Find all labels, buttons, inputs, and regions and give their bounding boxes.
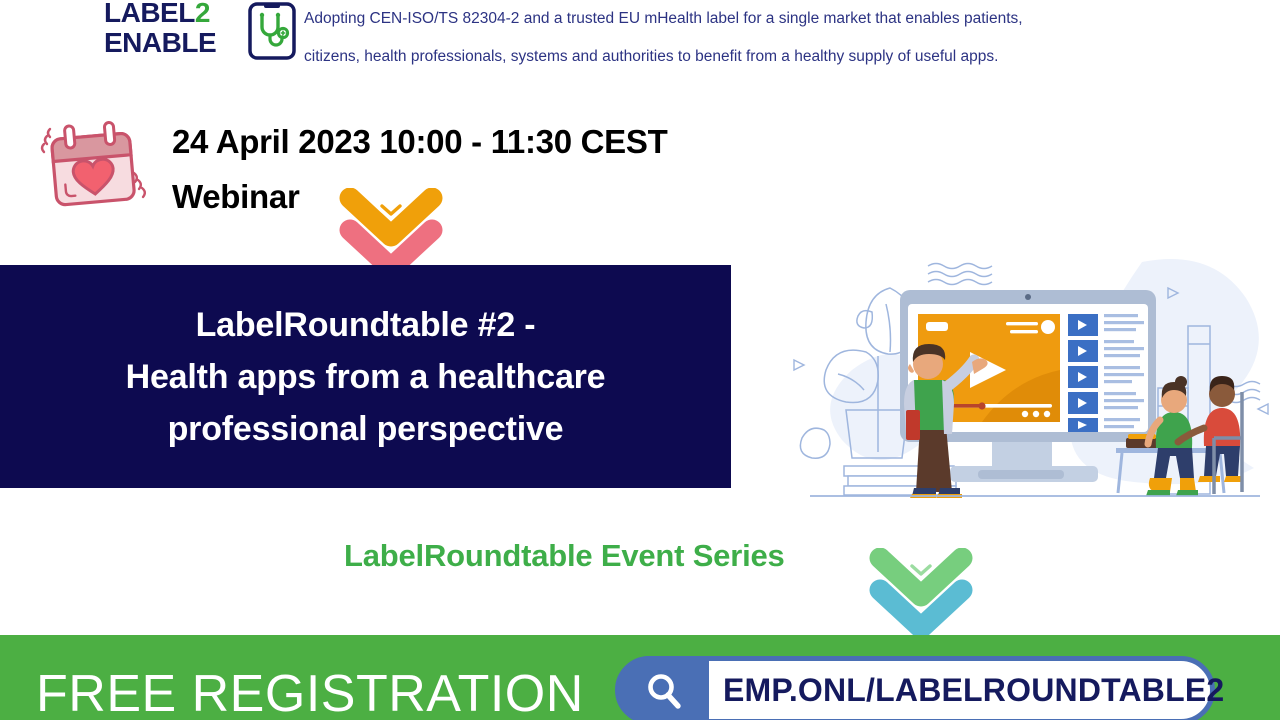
tagline-line-2: citizens, health professionals, systems … (304, 38, 1124, 76)
calendar-heart-icon (38, 116, 150, 216)
magnifier-icon (645, 672, 685, 712)
phone-stethoscope-icon (246, 2, 298, 60)
webinar-presentation-illustration (782, 252, 1280, 500)
event-title-line-1: LabelRoundtable #2 - (196, 299, 536, 351)
event-title: LabelRoundtable #2 - Health apps from a … (0, 265, 731, 488)
logo-wordmark-line2: ENABLE (104, 28, 216, 58)
logo-wordmark-line1: LABEL2 (104, 0, 210, 28)
logo-two-text: 2 (195, 0, 210, 28)
event-series-label: LabelRoundtable Event Series (344, 538, 785, 574)
logo-label-text: LABEL (104, 0, 195, 28)
label2enable-logo[interactable]: LABEL2 ENABLE (104, 0, 264, 62)
poster-page: LABEL2 ENABLE Adopting CEN-ISO/TS 82304-… (0, 0, 1280, 720)
event-title-line-2: Health apps from a healthcare (126, 351, 606, 403)
event-title-line-3: professional perspective (168, 403, 564, 455)
chevron-down-arrows-green-teal-icon (866, 548, 976, 648)
free-registration-heading: FREE REGISTRATION (36, 664, 584, 720)
tagline: Adopting CEN-ISO/TS 82304-2 and a truste… (304, 0, 1124, 62)
tagline-line-1: Adopting CEN-ISO/TS 82304-2 and a truste… (304, 0, 1124, 38)
event-format: Webinar (172, 178, 299, 216)
registration-url[interactable]: EMP.ONL/LABELROUNDTABLE2 (723, 672, 1224, 709)
event-datetime: 24 April 2023 10:00 - 11:30 CEST (172, 123, 667, 161)
event-title-banner: LabelRoundtable #2 - Health apps from a … (0, 265, 731, 488)
